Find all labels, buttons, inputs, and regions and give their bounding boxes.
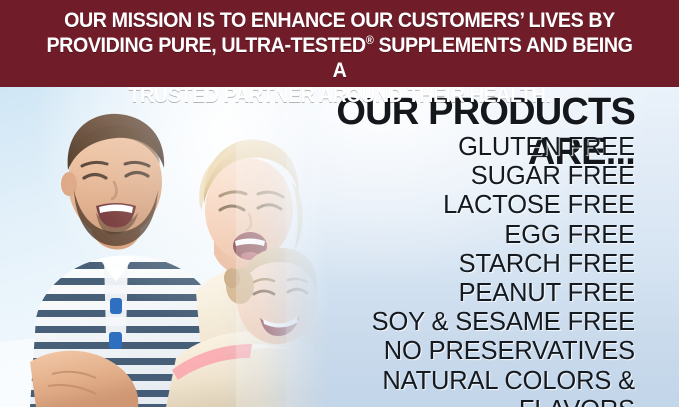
product-claims-banner: OUR MISSION IS TO ENHANCE OUR CUSTOMERS’…: [0, 0, 679, 407]
product-attributes-list: GLUTEN FREESUGAR FREELACTOSE FREEEGG FRE…: [245, 133, 635, 407]
mission-line-2: PROVIDING PURE, ULTRA-TESTED® SUPPLEMENT…: [46, 33, 632, 82]
product-attribute-item: STARCH FREE: [245, 250, 635, 279]
product-attribute-item: SUGAR FREE: [245, 162, 635, 191]
mission-statement-text: OUR MISSION IS TO ENHANCE OUR CUSTOMERS’…: [42, 8, 638, 108]
product-attribute-item: GLUTEN FREE: [245, 133, 635, 162]
mission-banner: OUR MISSION IS TO ENHANCE OUR CUSTOMERS’…: [0, 0, 679, 87]
product-attribute-item: LACTOSE FREE: [245, 191, 635, 220]
product-attribute-item: EGG FREE: [245, 221, 635, 250]
product-attribute-item: PEANUT FREE: [245, 279, 635, 308]
mission-line-1: OUR MISSION IS TO ENHANCE OUR CUSTOMERS’…: [64, 8, 615, 32]
product-attribute-item: FLAVORS: [245, 396, 635, 407]
product-attribute-item: SOY & SESAME FREE: [245, 308, 635, 337]
mission-line-3: TRUSTED PARTNER AROUND THEIR HEALTH.: [129, 83, 551, 107]
product-attribute-item: NO PRESERVATIVES: [245, 337, 635, 366]
registered-trademark-icon: ®: [366, 33, 374, 47]
product-attribute-item: NATURAL COLORS &: [245, 367, 635, 396]
